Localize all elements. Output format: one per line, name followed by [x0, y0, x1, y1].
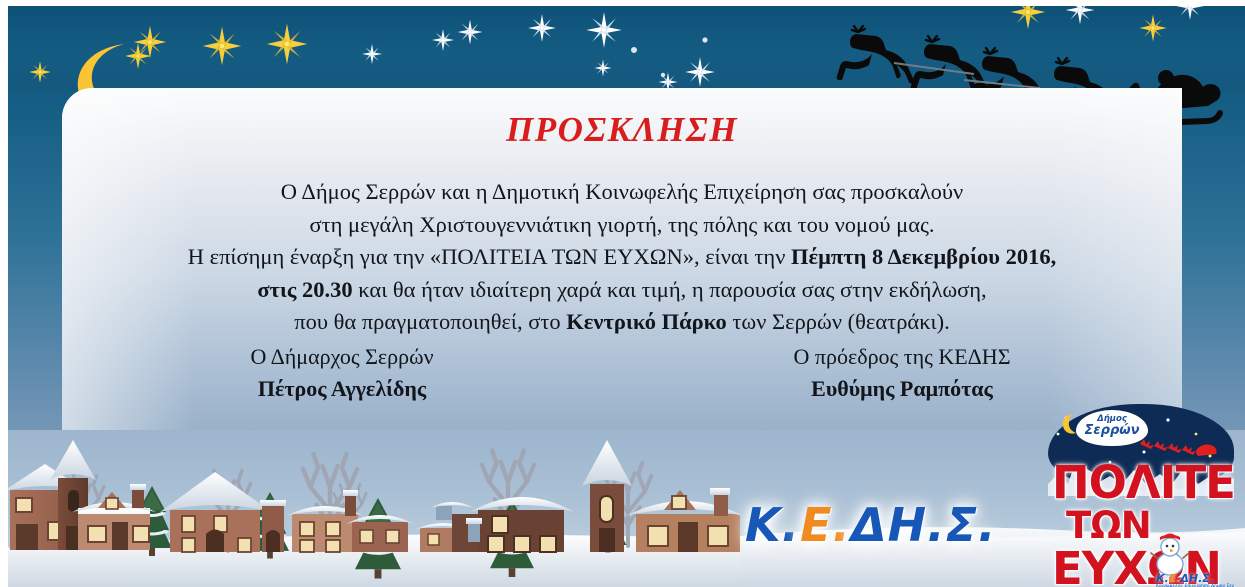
star-white-7	[685, 57, 715, 87]
reindeer-1	[837, 26, 914, 84]
signature-president: Ο πρόεδρος της ΚΕΔΗΣ Ευθύμης Ραμπότας	[622, 341, 1182, 405]
page-title: ΠΡΟΣΚΛΗΣΗ	[62, 88, 1182, 150]
star-yellow-1	[29, 61, 51, 83]
frame-left-edge	[0, 0, 8, 587]
star-white-1	[362, 44, 382, 64]
invitation-body: Ο Δήμος Σερρών και η Δημοτική Κοινωφελής…	[62, 150, 1182, 339]
body-line-2: στη μεγάλη Χριστουγεννιάτικη γιορτή, της…	[309, 212, 934, 237]
star-yellow-4	[203, 27, 241, 65]
body-line-5a: που θα πραγματοποιηθεί, στο	[294, 309, 566, 334]
kedis-wordmark: Κ.Ε.ΔΗ.Σ.	[745, 498, 997, 552]
kedis-wordmark-k: Κ.	[745, 498, 800, 552]
star-white-4	[528, 14, 556, 42]
body-line-5b: των Σερρών (θεατράκι).	[727, 309, 950, 334]
logo-reindeer-team	[1140, 439, 1217, 456]
logo-badge-line2: Σερρών	[1076, 424, 1148, 437]
logo-word-ton: ΤΩΝ	[1066, 504, 1151, 547]
star-white-6	[594, 59, 611, 76]
body-line-1: Ο Δήμος Σερρών και η Δημοτική Κοινωφελής…	[281, 179, 963, 204]
snowman-icon	[1148, 530, 1192, 576]
kedis-wordmark-dhs: ΔΗ.Σ.	[851, 498, 996, 552]
star-white-3	[432, 29, 454, 51]
star-yellow-5	[267, 24, 308, 65]
star-white-2	[458, 20, 483, 45]
signature-president-name: Ευθύμης Ραμπότας	[622, 373, 1182, 405]
event-venue: Κεντρικό Πάρκο	[566, 309, 726, 334]
star-dot-1	[631, 47, 637, 53]
logo-badge-line1: Δήμος	[1076, 410, 1148, 424]
signature-mayor-role: Ο Δήμαρχος Σερρών	[62, 341, 622, 373]
body-line-3a: Η επίσημη έναρξη για την «ΠΟΛΙΤΕΙΑ ΤΩΝ Ε…	[188, 244, 791, 269]
signature-block: Ο Δήμαρχος Σερρών Πέτρος Αγγελίδης Ο πρό…	[62, 341, 1182, 405]
body-line-4b: και θα ήταν ιδιαίτερη χαρά και τιμή, η π…	[353, 277, 987, 302]
kedis-wordmark-e: Ε.	[800, 498, 851, 552]
invitation-content: ΠΡΟΣΚΛΗΣΗ Ο Δήμος Σερρών και η Δημοτική …	[62, 88, 1182, 508]
signature-mayor-name: Πέτρος Αγγελίδης	[62, 373, 622, 405]
signature-president-role: Ο πρόεδρος της ΚΕΔΗΣ	[622, 341, 1182, 373]
event-time: στις 20.30	[257, 277, 352, 302]
signature-mayor: Ο Δήμαρχος Σερρών Πέτρος Αγγελίδης	[62, 341, 622, 405]
star-dot-2	[702, 37, 707, 42]
logo-municipality-badge: Δήμος Σερρών	[1076, 410, 1148, 446]
event-date: Πέμπτη 8 Δεκεμβρίου 2016,	[791, 244, 1056, 269]
politeia-ton-euxon-logo: Δήμος Σερρών ΠΟΛΙΤΕΙΑ ΤΩΝ ΕΥΧΩΝ Κ.Ε.ΔΗ.Σ…	[1048, 404, 1234, 587]
star-white-5	[586, 12, 622, 48]
frame-top-edge	[0, 0, 1245, 6]
star-dot-3	[661, 73, 665, 77]
invitation-card: ΠΡΟΣΚΛΗΣΗ Ο Δήμος Σερρών και η Δημοτική …	[0, 0, 1245, 587]
logo-word-politeia: ΠΟΛΙΤΕΙΑ	[1052, 456, 1234, 509]
